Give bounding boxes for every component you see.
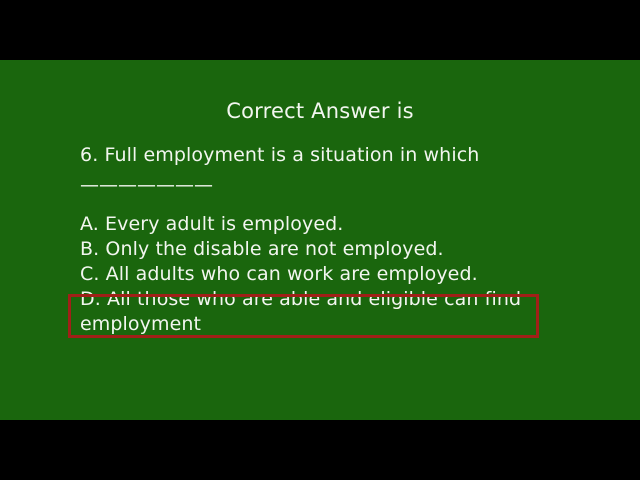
letterbox-bar-bottom: [0, 420, 640, 480]
page-title: Correct Answer is: [0, 98, 640, 124]
option-b[interactable]: B. Only the disable are not employed.: [80, 237, 580, 262]
video-frame: Correct Answer is 6. Full employment is …: [0, 0, 640, 480]
question-text: 6. Full employment is a situation in whi…: [80, 143, 479, 168]
option-d[interactable]: D. All those who are able and eligible c…: [80, 287, 535, 337]
question-blank-line: ———————: [80, 173, 213, 198]
option-c[interactable]: C. All adults who can work are employed.: [80, 262, 580, 287]
option-a[interactable]: A. Every adult is employed.: [80, 212, 580, 237]
options-list: A. Every adult is employed. B. Only the …: [80, 212, 580, 337]
answer-slide: Correct Answer is 6. Full employment is …: [0, 60, 640, 420]
letterbox-bar-top: [0, 0, 640, 60]
